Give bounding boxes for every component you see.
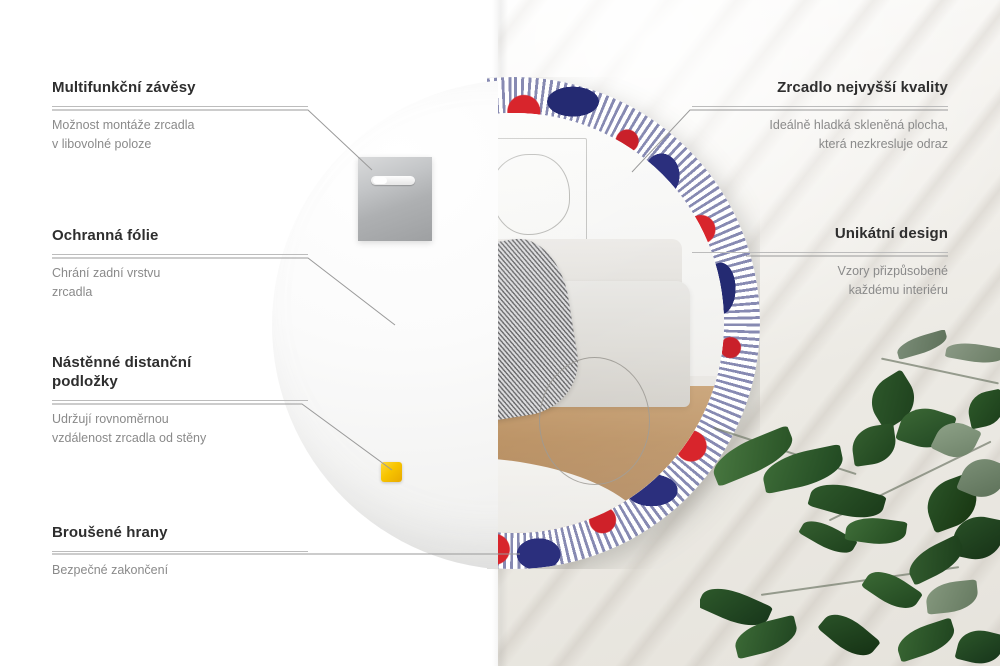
infographic-canvas: Multifunkční závěsy Možnost montáže zrca… bbox=[0, 0, 1000, 666]
feature-rule bbox=[52, 400, 308, 401]
feature-desc: Bezpečné zakončení bbox=[52, 561, 308, 580]
leaf bbox=[850, 423, 899, 467]
feature-brousene-hrany: Broušené hrany Bezpečné zakončení bbox=[52, 523, 308, 580]
feature-zrcadlo-nejvyssi-kvality: Zrcadlo nejvyšší kvality Ideálně hladká … bbox=[692, 78, 948, 154]
feature-title: Unikátní design bbox=[692, 224, 948, 243]
feature-desc: Udržují rovnoměrnouvzdálenost zrcadla od… bbox=[52, 410, 308, 448]
feature-desc: Ideálně hladká skleněná plocha,která nez… bbox=[692, 116, 948, 154]
spacer-pad bbox=[381, 462, 402, 482]
leaf bbox=[817, 605, 881, 665]
feature-rule bbox=[692, 252, 948, 253]
feature-rule bbox=[692, 106, 948, 107]
feature-rule bbox=[52, 106, 308, 107]
feature-desc: Možnost montáže zrcadlav libovolné poloz… bbox=[52, 116, 308, 154]
leaf bbox=[965, 389, 1000, 430]
leaf bbox=[895, 330, 950, 360]
feature-ochranna-folie: Ochranná fólie Chrání zadní vrstvuzrcadl… bbox=[52, 226, 308, 302]
leaf bbox=[903, 534, 969, 585]
feature-multifunkcni-zavesy: Multifunkční závěsy Možnost montáže zrca… bbox=[52, 78, 308, 154]
feature-rule bbox=[52, 551, 308, 552]
foliage-decoration bbox=[700, 330, 1000, 666]
leaf bbox=[893, 617, 959, 662]
leaf bbox=[925, 579, 980, 614]
feature-desc: Chrání zadní vrstvuzrcadla bbox=[52, 264, 308, 302]
feature-title: Multifunkční závěsy bbox=[52, 78, 308, 97]
feature-title: Nástěnné distančnípodložky bbox=[52, 353, 308, 391]
feature-title: Ochranná fólie bbox=[52, 226, 308, 245]
feature-rule bbox=[52, 254, 308, 255]
feature-unikatni-design: Unikátní design Vzory přizpůsobenékaždém… bbox=[692, 224, 948, 300]
feature-title: Broušené hrany bbox=[52, 523, 308, 542]
feature-nastenne-distancni-podlozky: Nástěnné distančnípodložky Udržují rovno… bbox=[52, 353, 308, 448]
hanger-plate bbox=[358, 157, 432, 241]
leaf bbox=[955, 625, 1000, 666]
hanger-keyhole-slot bbox=[371, 176, 415, 185]
feature-title: Zrcadlo nejvyšší kvality bbox=[692, 78, 948, 97]
feature-desc: Vzory přizpůsobenékaždému interiéru bbox=[692, 262, 948, 300]
leaf bbox=[945, 339, 1000, 367]
mirror-glass bbox=[487, 113, 724, 533]
